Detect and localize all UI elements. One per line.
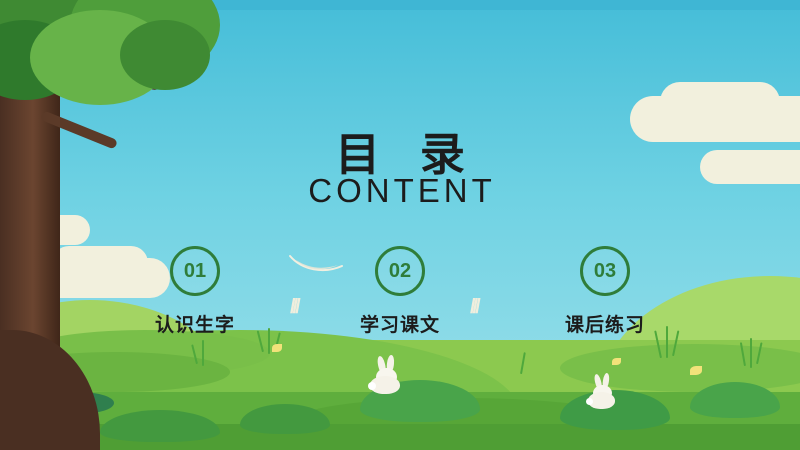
agenda-item-3[interactable]: 03 课后练习: [530, 246, 680, 337]
grass-tuft-icon: [202, 340, 204, 366]
agenda-number-badge: 03: [580, 246, 630, 296]
agenda-item-label: 认识生字: [120, 310, 270, 337]
agenda-item-label: 课后练习: [530, 310, 680, 337]
petal-icon: [690, 366, 702, 375]
agenda-number-badge: 01: [170, 246, 220, 296]
page-title-en: CONTENT: [0, 172, 800, 210]
agenda-divider: ///: [290, 296, 298, 319]
agenda-item-label: 学习课文: [325, 310, 475, 337]
petal-icon: [612, 358, 621, 365]
agenda-item-2[interactable]: 02 学习课文: [325, 246, 475, 337]
agenda-divider: ///: [470, 296, 478, 319]
grass-tuft-icon: [750, 338, 752, 368]
agenda-item-1[interactable]: 01 认识生字: [120, 246, 270, 337]
slide-canvas: 目 录 CONTENT 01 认识生字 02 学习课文 03 课后练习 /// …: [0, 0, 800, 450]
rabbit-illustration: [368, 356, 408, 392]
agenda-number-badge: 02: [375, 246, 425, 296]
agenda-list: 01 认识生字 02 学习课文 03 课后练习: [120, 246, 680, 337]
rabbit-illustration: [586, 374, 622, 408]
cloud-icon: [660, 82, 780, 122]
petal-icon: [272, 344, 282, 352]
tree-foliage: [120, 20, 210, 90]
